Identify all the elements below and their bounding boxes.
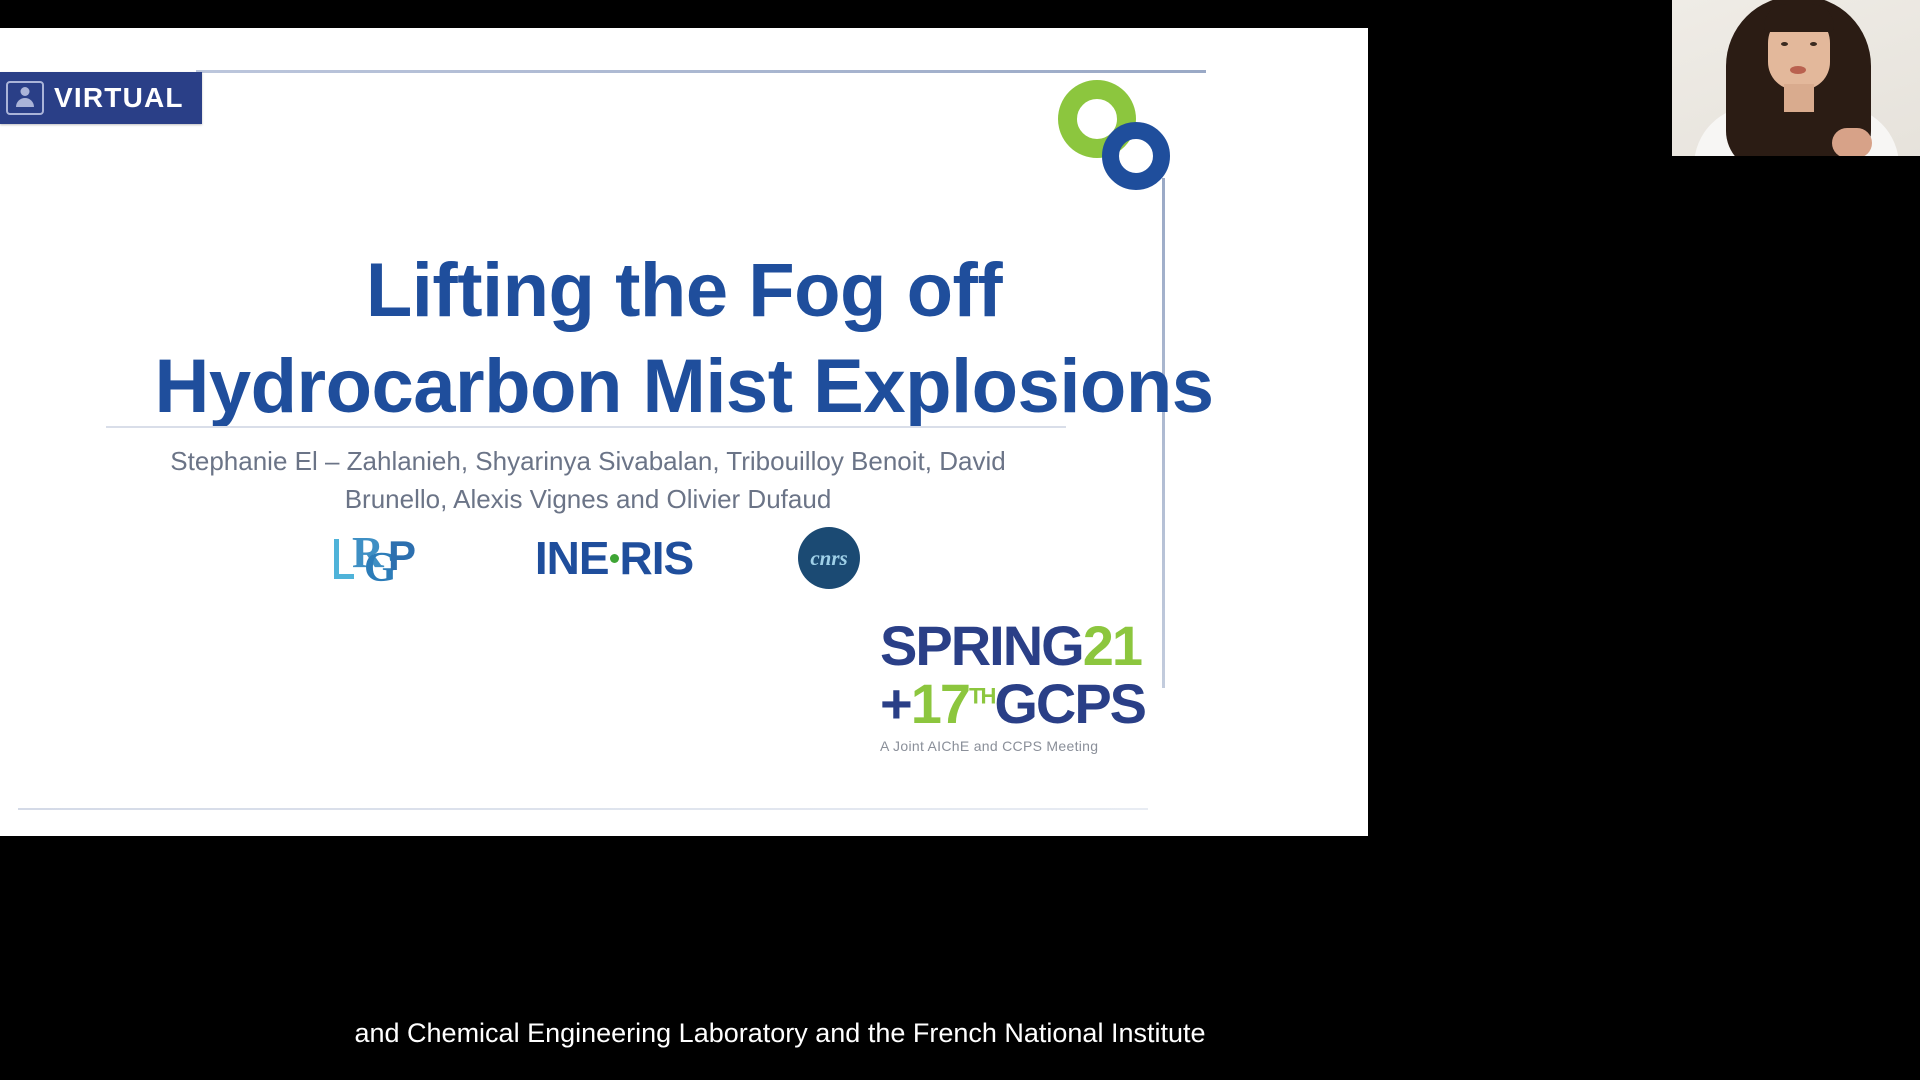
conference-logo: SPRING21 +17THGCPS A Joint AIChE and CCP… [880, 618, 1180, 754]
spring-word: SPRING [880, 614, 1083, 677]
plus-sign: + [880, 672, 911, 735]
lrgp-p-glyph: P [388, 535, 416, 577]
gcps-word: GCPS [994, 672, 1145, 735]
lrgp-l-stem [334, 539, 339, 579]
conference-logo-row-1: SPRING21 [880, 618, 1180, 674]
caption-text: and Chemical Engineering Laboratory and … [0, 1018, 1560, 1049]
video-player-stage: VIRTUAL Lifting the Fog off Hydrocarbon … [0, 0, 1920, 1080]
title-line-2: Hydrocarbon Mist Explosions [0, 349, 1368, 425]
presenter-neck [1784, 84, 1814, 112]
organization-logos: R G P INERIS cnrs [330, 523, 860, 593]
edition-number: 17 [911, 672, 969, 735]
ring-blue-icon [1102, 122, 1170, 190]
virtual-monitor-icon [6, 81, 44, 115]
title-line-1: Lifting the Fog off [0, 253, 1368, 329]
slide-rule-bottom [18, 808, 1148, 810]
presenter-hair-front [1764, 4, 1834, 32]
slide-rule-top [196, 70, 1206, 73]
authors-line-2: Brunello, Alexis Vignes and Olivier Dufa… [108, 481, 1068, 519]
presenter-eye-left [1781, 42, 1788, 46]
ineris-dot-icon [610, 554, 619, 563]
authors-line-1: Stephanie El – Zahlanieh, Shyarinya Siva… [108, 443, 1068, 481]
spring-year: 21 [1083, 614, 1141, 677]
cnrs-logo: cnrs [798, 527, 860, 589]
lrgp-logo: R G P [330, 529, 430, 587]
lrgp-l-foot [334, 574, 354, 579]
cnrs-logo-label: cnrs [810, 546, 847, 571]
slide-title: Lifting the Fog off Hydrocarbon Mist Exp… [0, 253, 1368, 425]
presenter-eye-right [1810, 42, 1817, 46]
webcam-bottom-bar [1672, 156, 1920, 166]
title-separator [106, 426, 1066, 428]
authors-block: Stephanie El – Zahlanieh, Shyarinya Siva… [108, 443, 1068, 518]
edition-suffix: TH [969, 683, 994, 708]
presentation-slide: VIRTUAL Lifting the Fog off Hydrocarbon … [0, 28, 1368, 836]
virtual-badge-label: VIRTUAL [54, 82, 184, 114]
conference-tagline: A Joint AIChE and CCPS Meeting [880, 738, 1180, 754]
presenter-webcam-thumbnail[interactable] [1672, 0, 1920, 166]
presenter-hand [1832, 128, 1872, 158]
virtual-badge: VIRTUAL [0, 72, 202, 124]
presenter-mouth [1790, 66, 1806, 74]
conference-logo-row-2: +17THGCPS [880, 676, 1180, 732]
interlocking-rings-logo [1058, 80, 1178, 190]
ineris-logo: INERIS [535, 531, 693, 585]
